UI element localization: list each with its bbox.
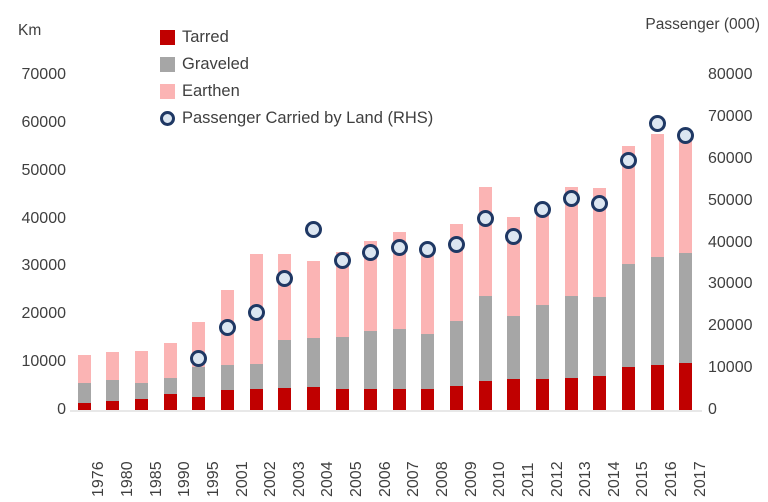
x-axis-tick-label: 2013	[578, 461, 594, 497]
bar-segment-graveled[interactable]	[164, 378, 177, 394]
bar-segment-graveled[interactable]	[565, 296, 578, 378]
x-axis-tick-label: 1976	[91, 461, 107, 497]
x-axis-tick-label: 2003	[292, 461, 308, 497]
bar-stack[interactable]	[651, 134, 664, 410]
x-axis-tick-label: 2008	[435, 461, 451, 497]
bar-segment-graveled[interactable]	[536, 305, 549, 379]
bar-segment-tarred[interactable]	[679, 363, 692, 410]
passenger-data-point-marker[interactable]	[649, 115, 666, 132]
bar-segment-tarred[interactable]	[651, 365, 664, 410]
legend-swatch-icon	[160, 57, 175, 72]
bar-segment-graveled[interactable]	[479, 296, 492, 381]
bar-segment-earthen[interactable]	[679, 138, 692, 253]
bar-segment-earthen[interactable]	[164, 343, 177, 378]
y-axis-tick-label: 70000	[22, 67, 67, 83]
y2-axis-tick-label: 70000	[708, 109, 753, 125]
y-axis-tick-label: 30000	[22, 258, 67, 274]
bar-segment-graveled[interactable]	[278, 340, 291, 388]
bar-segment-tarred[interactable]	[393, 389, 406, 410]
chart-container: Km Passenger (000) TarredGraveledEarthen…	[0, 0, 768, 502]
bar-stack[interactable]	[78, 355, 91, 410]
bar-segment-graveled[interactable]	[651, 257, 664, 365]
x-axis-tick-label: 2005	[349, 461, 365, 497]
y2-axis-tick-label: 30000	[708, 276, 753, 292]
y-axis-tick-label: 60000	[22, 115, 67, 131]
plot-area	[70, 75, 700, 410]
left-axis-title: Km	[18, 22, 41, 40]
bar-segment-tarred[interactable]	[479, 381, 492, 410]
x-axis-tick-label: 1985	[149, 461, 165, 497]
bar-segment-graveled[interactable]	[135, 383, 148, 399]
bar-segment-tarred[interactable]	[593, 376, 606, 410]
y2-axis-tick-label: 20000	[708, 318, 753, 334]
passenger-data-point-marker[interactable]	[563, 190, 580, 207]
bar-segment-earthen[interactable]	[106, 352, 119, 380]
y-axis-tick-label: 20000	[22, 306, 67, 322]
bar-segment-graveled[interactable]	[192, 367, 205, 397]
bar-segment-graveled[interactable]	[106, 380, 119, 401]
bar-segment-graveled[interactable]	[393, 329, 406, 389]
passenger-data-point-marker[interactable]	[505, 228, 522, 245]
bar-segment-tarred[interactable]	[78, 403, 91, 410]
axis-baseline	[70, 410, 702, 412]
x-axis-tick-label: 2010	[492, 461, 508, 497]
bar-stack[interactable]	[507, 217, 520, 410]
bar-segment-tarred[interactable]	[507, 379, 520, 410]
x-axis-tick-label: 2017	[693, 461, 709, 497]
x-axis-tick-label: 2004	[320, 461, 336, 497]
bar-segment-tarred[interactable]	[106, 401, 119, 410]
x-axis-tick-label: 2007	[406, 461, 422, 497]
bar-segment-tarred[interactable]	[336, 389, 349, 410]
x-axis-tick-label: 2016	[664, 461, 680, 497]
bar-segment-tarred[interactable]	[364, 389, 377, 410]
bar-segment-graveled[interactable]	[679, 253, 692, 363]
y2-axis-tick-label: 0	[708, 402, 717, 418]
x-axis-tick-label: 2014	[607, 461, 623, 497]
x-axis-tick-label: 2006	[378, 461, 394, 497]
passenger-data-point-marker[interactable]	[391, 239, 408, 256]
y-axis-tick-label: 0	[57, 402, 66, 418]
bar-segment-graveled[interactable]	[78, 383, 91, 403]
bar-stack[interactable]	[336, 252, 349, 410]
y-axis-tick-label: 50000	[22, 163, 67, 179]
legend-label: Tarred	[182, 29, 229, 46]
bar-stack[interactable]	[622, 146, 635, 410]
bar-stack[interactable]	[393, 232, 406, 410]
passenger-data-point-marker[interactable]	[477, 210, 494, 227]
bar-stack[interactable]	[679, 138, 692, 410]
bar-segment-graveled[interactable]	[622, 264, 635, 367]
bar-segment-graveled[interactable]	[307, 338, 320, 387]
bar-segment-graveled[interactable]	[450, 321, 463, 387]
bar-segment-earthen[interactable]	[307, 261, 320, 339]
bar-segment-tarred[interactable]	[622, 367, 635, 410]
bar-stack[interactable]	[250, 254, 263, 410]
y2-axis-tick-label: 40000	[708, 235, 753, 251]
bar-segment-earthen[interactable]	[479, 187, 492, 297]
legend-swatch-icon	[160, 30, 175, 45]
x-axis-tick-label: 1990	[177, 461, 193, 497]
x-axis-tick-label: 2012	[550, 461, 566, 497]
x-axis-tick-label: 2001	[235, 461, 251, 497]
bar-stack[interactable]	[221, 290, 234, 410]
bar-stack[interactable]	[565, 187, 578, 410]
passenger-data-point-marker[interactable]	[677, 127, 694, 144]
x-axis-tick-label: 2002	[263, 461, 279, 497]
passenger-data-point-marker[interactable]	[334, 252, 351, 269]
bar-segment-tarred[interactable]	[164, 394, 177, 410]
y-axis-tick-label: 10000	[22, 354, 67, 370]
bar-segment-graveled[interactable]	[250, 364, 263, 389]
bar-segment-graveled[interactable]	[336, 337, 349, 390]
bar-segment-tarred[interactable]	[135, 399, 148, 410]
bar-segment-earthen[interactable]	[135, 351, 148, 383]
legend-item-graveled[interactable]: Graveled	[160, 53, 433, 75]
passenger-data-point-marker[interactable]	[534, 201, 551, 218]
bar-segment-tarred[interactable]	[421, 389, 434, 410]
y2-axis-tick-label: 50000	[708, 193, 753, 209]
bar-segment-tarred[interactable]	[565, 378, 578, 410]
legend-label: Graveled	[182, 56, 249, 73]
bar-stack[interactable]	[593, 188, 606, 410]
bar-segment-graveled[interactable]	[593, 297, 606, 376]
bar-segment-tarred[interactable]	[250, 389, 263, 410]
bar-segment-earthen[interactable]	[78, 355, 91, 384]
bar-segment-tarred[interactable]	[278, 388, 291, 410]
x-axis-tick-label: 2009	[464, 461, 480, 497]
bar-stack[interactable]	[536, 204, 549, 410]
bar-stack[interactable]	[421, 244, 434, 410]
bar-stack[interactable]	[364, 241, 377, 410]
bar-segment-tarred[interactable]	[536, 379, 549, 410]
y2-axis-tick-label: 10000	[708, 360, 753, 376]
right-axis-title: Passenger (000)	[645, 16, 760, 34]
x-axis-tick-label: 2015	[635, 461, 651, 497]
x-axis-tick-label: 1995	[206, 461, 222, 497]
bar-stack[interactable]	[106, 352, 119, 410]
passenger-data-point-marker[interactable]	[190, 350, 207, 367]
bar-segment-graveled[interactable]	[421, 334, 434, 389]
passenger-data-point-marker[interactable]	[591, 195, 608, 212]
passenger-data-point-marker[interactable]	[248, 304, 265, 321]
x-axis-tick-label: 1980	[120, 461, 136, 497]
bar-segment-earthen[interactable]	[278, 254, 291, 340]
bar-stack[interactable]	[307, 261, 320, 410]
passenger-data-point-marker[interactable]	[305, 221, 322, 238]
x-axis-tick-label: 2011	[521, 463, 537, 497]
y-axis-tick-label: 40000	[22, 211, 67, 227]
bar-segment-graveled[interactable]	[364, 331, 377, 389]
y2-axis-tick-label: 60000	[708, 151, 753, 167]
bar-segment-graveled[interactable]	[221, 365, 234, 390]
bar-segment-earthen[interactable]	[651, 134, 664, 257]
bar-segment-tarred[interactable]	[450, 386, 463, 410]
bar-stack[interactable]	[164, 343, 177, 410]
bar-segment-tarred[interactable]	[192, 397, 205, 410]
legend-item-tarred[interactable]: Tarred	[160, 26, 433, 48]
bar-stack[interactable]	[135, 351, 148, 410]
bar-segment-earthen[interactable]	[536, 204, 549, 305]
bar-segment-tarred[interactable]	[307, 387, 320, 410]
y2-axis-tick-label: 80000	[708, 67, 753, 83]
bar-segment-graveled[interactable]	[507, 316, 520, 379]
bar-segment-tarred[interactable]	[221, 390, 234, 410]
